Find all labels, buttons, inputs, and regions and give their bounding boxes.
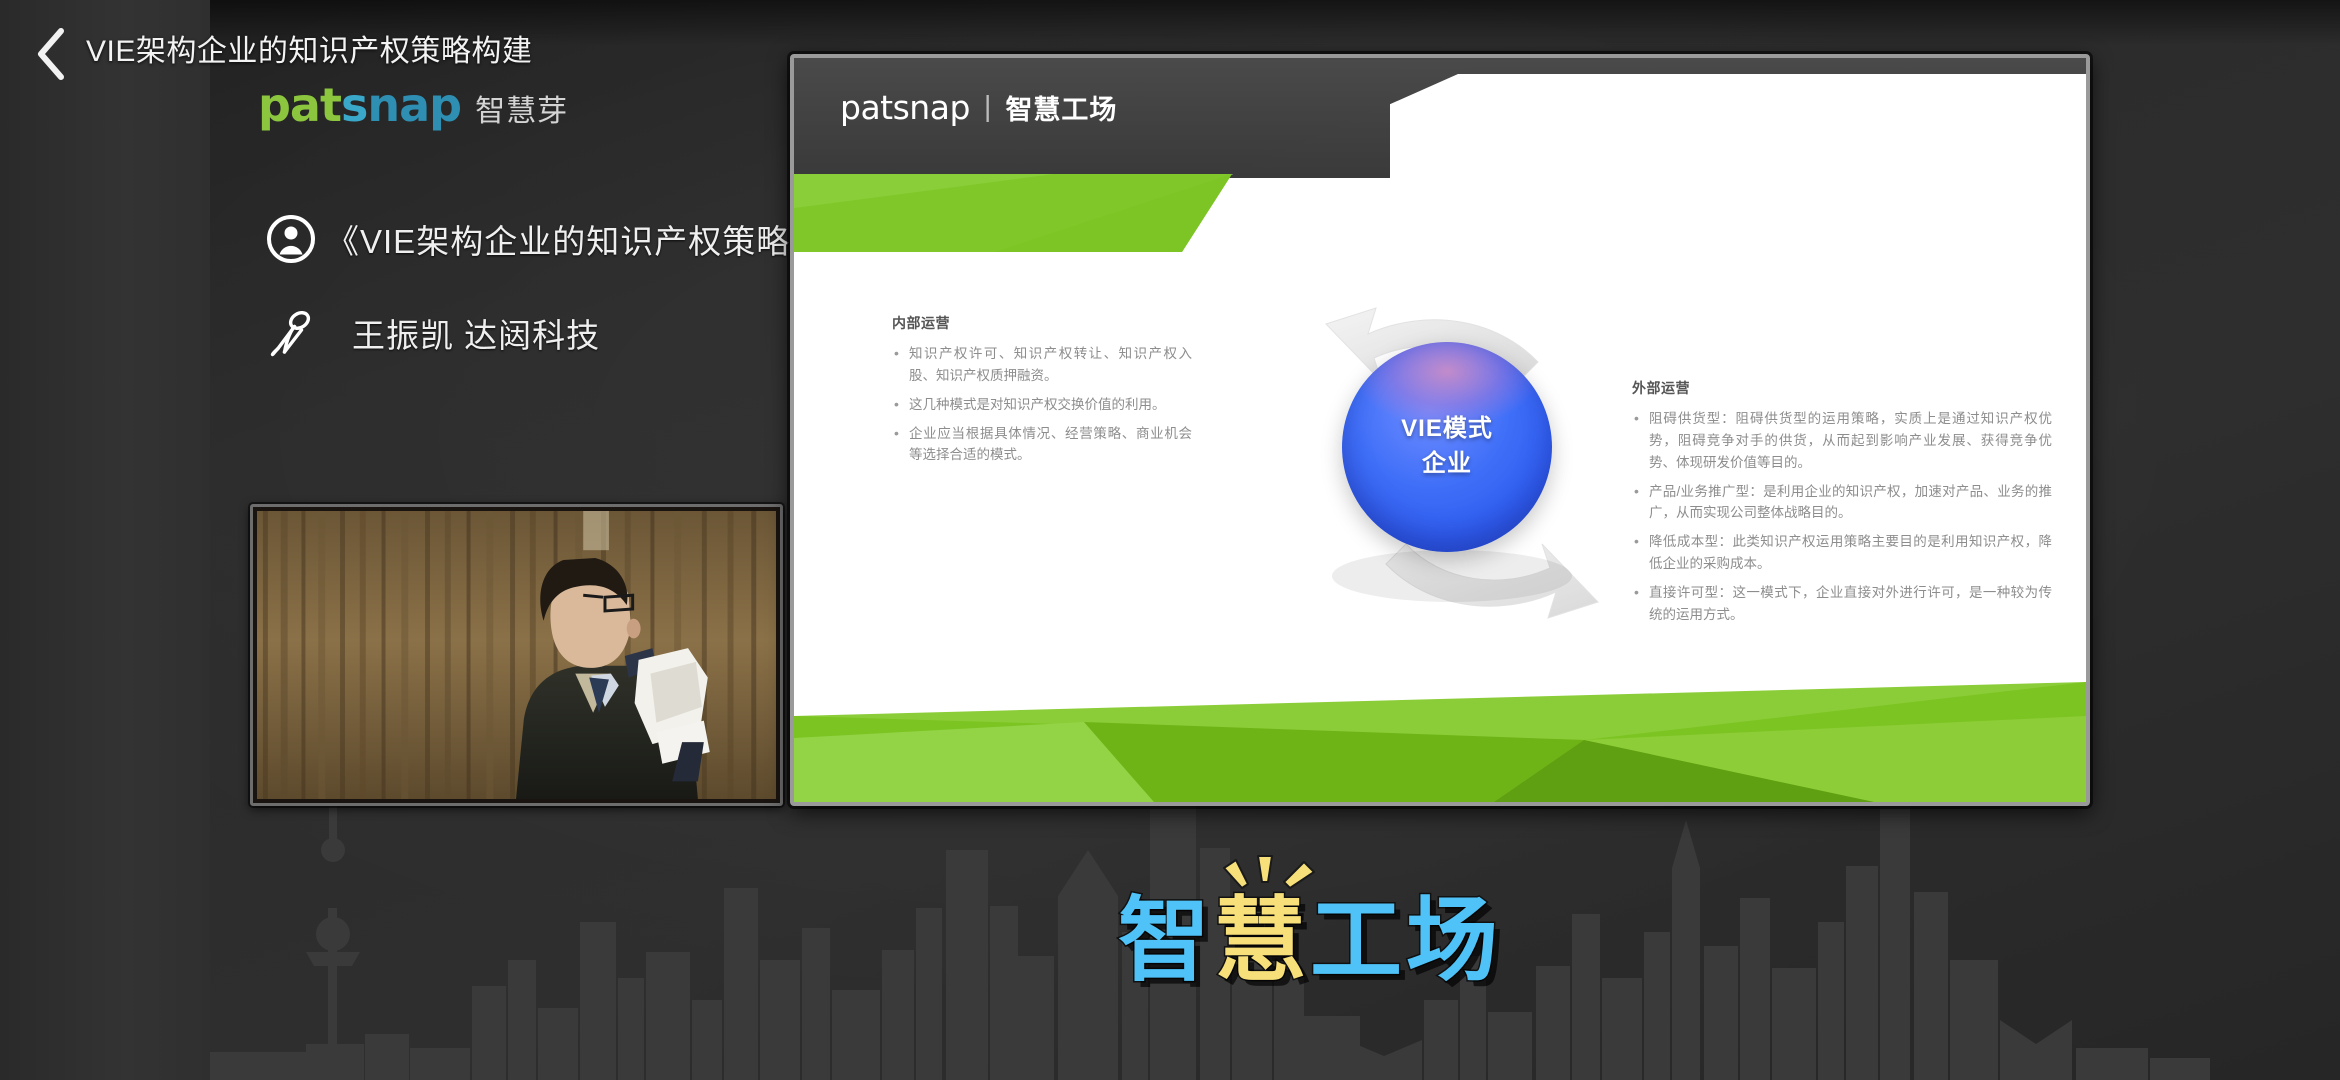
list-item: 直接许可型：这一模式下，企业直接对外进行许可，是一种较为传统的运用方式。	[1632, 582, 2052, 626]
presentation-slide[interactable]: patsnap | 智慧工场 知识产权运营策略 内部运营 知识产权许可、知识产权…	[790, 54, 2090, 806]
slide-logo-word: patsnap	[840, 88, 970, 127]
speaker-name: 王振凯 达闼科技	[352, 309, 600, 357]
app-root: VIE架构企业的知识产权策略构建 pat s nap 智慧芽 《VIE架构企业的…	[0, 0, 2340, 1080]
vie-label-line1: VIE模式	[1401, 412, 1493, 447]
patsnap-logo: pat s nap 智慧芽	[258, 78, 568, 132]
back-button[interactable]	[20, 24, 80, 84]
speaker-video-thumbnail[interactable]	[250, 504, 783, 806]
left-gutter	[0, 0, 210, 1080]
logo-text-pat: pat	[258, 78, 341, 132]
logo-text-s: s	[341, 78, 367, 132]
user-circle-icon	[262, 210, 320, 268]
slide-logo-cn: 智慧工场	[1005, 88, 1117, 127]
vie-circle-diagram: VIE模式 企业	[1256, 266, 1656, 666]
list-item: 阻碍供货型：阻碍供货型的运用策略，实质上是通过知识产权优势，阻碍竞争对手的供货，…	[1632, 408, 2052, 474]
page-title: VIE架构企业的知识产权策略构建	[86, 26, 532, 70]
video-still-image	[257, 511, 776, 799]
video-frame	[257, 511, 776, 799]
logo-char-zhi: 智	[1118, 887, 1214, 994]
external-bullet-list: 阻碍供货型：阻碍供货型的运用策略，实质上是通过知识产权优势，阻碍竞争对手的供货，…	[1632, 408, 2052, 626]
logo-text-nap: nap	[367, 78, 461, 132]
slide-canvas: patsnap | 智慧工场 知识产权运营策略 内部运营 知识产权许可、知识产权…	[794, 58, 2086, 802]
list-item: 企业应当根据具体情况、经营策略、商业机会等选择合适的模式。	[892, 423, 1192, 467]
slide-footer-graphic	[794, 682, 2086, 802]
slide-logo-separator: |	[984, 91, 992, 124]
vie-sphere-label: VIE模式 企业	[1342, 342, 1552, 552]
internal-operations-column: 内部运营 知识产权许可、知识产权转让、知识产权入股、知识产权质押融资。 这几种模…	[892, 313, 1192, 473]
internal-heading: 内部运营	[892, 313, 1192, 333]
list-item: 知识产权许可、知识产权转让、知识产权入股、知识产权质押融资。	[892, 343, 1192, 387]
list-item: 降低成本型：此类知识产权运用策略主要目的是利用知识产权，降低企业的采购成本。	[1632, 531, 2052, 575]
list-item: 这几种模式是对知识产权交换价值的利用。	[892, 394, 1192, 416]
logo-text-cn: 智慧芽	[475, 86, 568, 130]
chevron-left-icon	[33, 27, 67, 81]
sun-rays-icon	[1222, 852, 1412, 942]
external-heading: 外部运营	[1632, 378, 2052, 398]
internal-bullet-list: 知识产权许可、知识产权转让、知识产权入股、知识产权质押融资。 这几种模式是对知识…	[892, 343, 1192, 466]
slide-header-logo: patsnap | 智慧工场	[840, 88, 1117, 127]
microphone-icon	[262, 304, 320, 362]
list-item: 产品/业务推广型：是利用企业的知识产权，加速对产品、业务的推广，从而实现公司整体…	[1632, 481, 2052, 525]
vie-label-line2: 企业	[1422, 447, 1472, 482]
external-operations-column: 外部运营 阻碍供货型：阻碍供货型的运用策略，实质上是通过知识产权优势，阻碍竞争对…	[1632, 378, 2052, 633]
